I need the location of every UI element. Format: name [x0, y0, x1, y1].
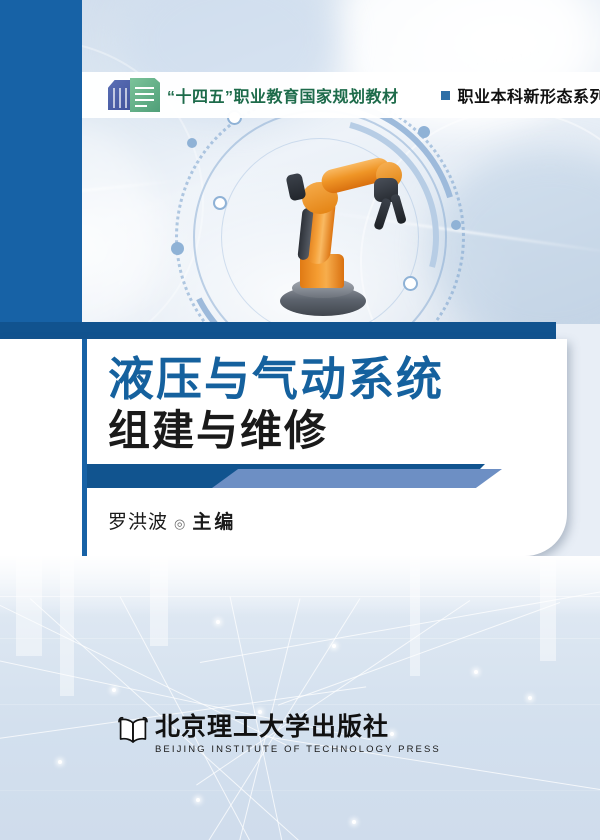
mesh-horizon-line: [0, 704, 600, 705]
card-accent-bar: [82, 339, 87, 556]
mesh-node: [332, 644, 336, 648]
mesh-node: [528, 696, 532, 700]
robot-rear-joint: [285, 173, 306, 202]
bottom-background: [0, 556, 600, 840]
spine-strip: [0, 0, 82, 324]
author-name: 罗洪波: [108, 512, 168, 533]
ring-dot: [187, 138, 197, 148]
badge-row: “十四五”职业教育国家规划教材 职业本科新形态系列教材: [82, 72, 600, 118]
mesh-node: [216, 620, 220, 624]
mesh-node: [58, 760, 62, 764]
mesh-node: [112, 688, 116, 692]
mesh-line: [278, 602, 560, 706]
industrial-robot-arm-icon: [248, 150, 408, 322]
square-bullet-icon: [441, 91, 450, 100]
robot-gripper-finger: [390, 193, 407, 224]
mesh-horizon-line: [0, 790, 600, 791]
ring-dot-hollow: [213, 196, 227, 210]
ring-dot: [171, 242, 184, 255]
publisher-block: 北京理工大学出版社 BEIJING INSTITUTE OF TECHNOLOG…: [118, 714, 441, 755]
author-role: 主编: [192, 512, 236, 533]
ring-dot: [451, 220, 461, 230]
mesh-node: [196, 798, 200, 802]
mesh-node: [352, 820, 356, 824]
decorative-band: [87, 464, 507, 490]
publisher-name-english: BEIJING INSTITUTE OF TECHNOLOGY PRESS: [155, 744, 441, 755]
hero-background: [0, 0, 600, 324]
mesh-line: [200, 586, 600, 663]
ring-dot: [418, 126, 430, 138]
book-title-line2: 组建与维修: [108, 409, 328, 454]
blue-divider-band: [0, 322, 556, 339]
mesh-horizon-line: [0, 596, 600, 597]
decorative-band-light: [212, 469, 502, 488]
open-book-logo-icon: [118, 716, 148, 744]
book-title-line1: 液压与气动系统: [108, 355, 444, 404]
book-cover: “十四五”职业教育国家规划教材 职业本科新形态系列教材 液压与气动系统 组建与维…: [0, 0, 600, 840]
badge-secondary-label: 职业本科新形态系列教材: [458, 83, 600, 107]
mesh-horizon-line: [0, 638, 600, 639]
author-separator-icon: ◎: [174, 516, 186, 531]
badge-primary-label: “十四五”职业教育国家规划教材: [167, 83, 399, 107]
national-planning-textbook-logo-icon: [108, 78, 162, 112]
logo-green-page: [130, 78, 160, 112]
mesh-node: [474, 670, 478, 674]
publisher-text: 北京理工大学出版社 BEIJING INSTITUTE OF TECHNOLOG…: [155, 714, 441, 755]
robot-gripper-finger: [373, 197, 391, 230]
author-line: 罗洪波◎主编: [108, 507, 236, 534]
publisher-name-chinese: 北京理工大学出版社: [155, 714, 441, 739]
title-card: 液压与气动系统 组建与维修 罗洪波◎主编: [0, 339, 567, 556]
